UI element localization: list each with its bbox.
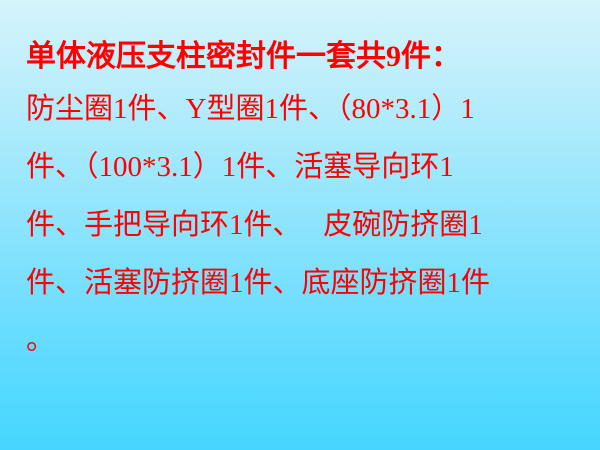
slide-body-line-4: 件、活塞防挤圈1件、底座防挤圈1件 [26,254,578,312]
slide-body-line-5: 。 [26,312,578,368]
slide-text-block: 单体液压支柱密封件一套共9件： 防尘圈1件、Y型圈1件、（80*3.1）1 件、… [26,34,578,368]
slide-body-line-2: 件、（100*3.1）1件、活塞导向环1 [26,138,578,196]
slide-body-line-3: 件、手把导向环1件、 皮碗防挤圈1 [26,196,578,254]
slide-canvas: 单体液压支柱密封件一套共9件： 防尘圈1件、Y型圈1件、（80*3.1）1 件、… [0,0,600,450]
slide-title: 单体液压支柱密封件一套共9件： [26,34,578,80]
slide-body-line-1: 防尘圈1件、Y型圈1件、（80*3.1）1 [26,80,578,138]
